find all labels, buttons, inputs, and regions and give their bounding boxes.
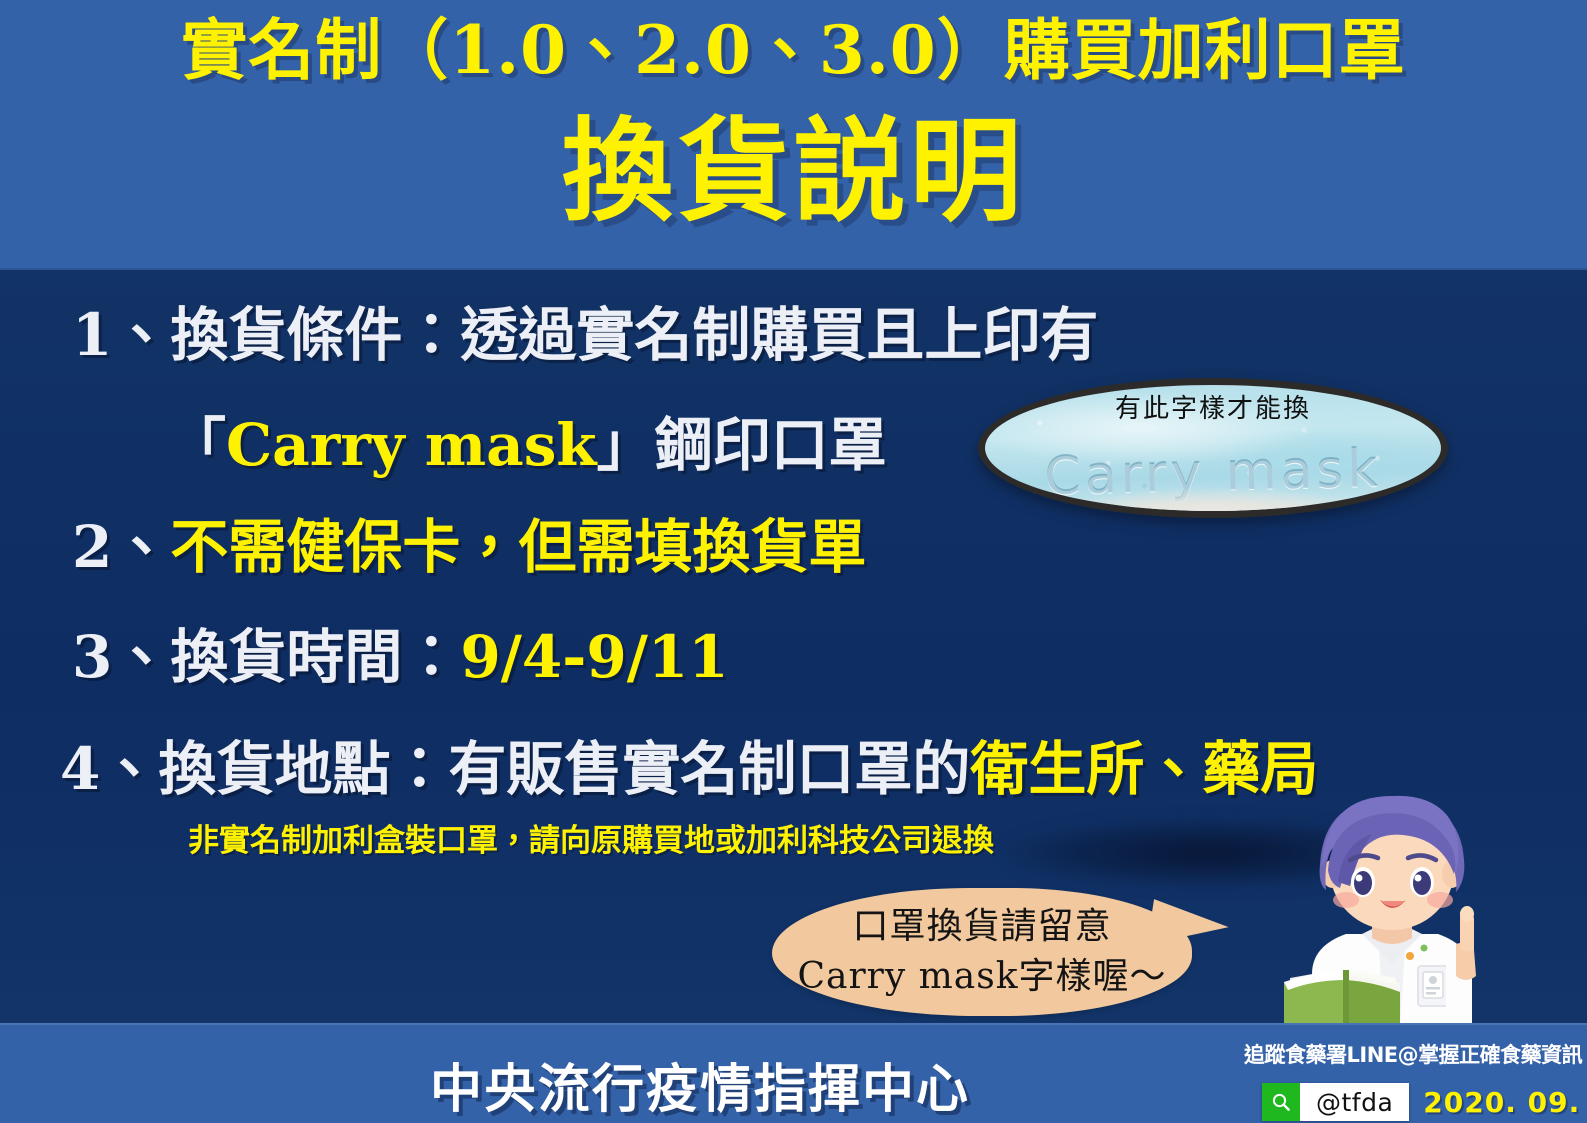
line-promo-text: 追蹤食藥署LINE@掌握正確食藥資訊 <box>1244 1039 1582 1069</box>
line-account-id: @tfda <box>1300 1083 1409 1121</box>
item-2-number: 2、 <box>72 513 170 581</box>
pharmacist-character-illustration <box>1250 778 1550 1026</box>
speech-bubble-line-2: Carry mask字樣喔～ <box>772 952 1192 1002</box>
poster-title-sub: 換貨説明 <box>0 105 1587 239</box>
speech-bubble-line-1: 口罩換貨請留意 <box>772 902 1192 952</box>
line-id-chip[interactable]: @tfda <box>1262 1083 1409 1121</box>
item-3-date-highlight: 9/4-9/11 <box>460 623 728 691</box>
mask-emboss-text: Carry mask <box>984 437 1441 508</box>
list-item-2: 2、不需健保卡，但需填換貨單 <box>72 500 866 584</box>
item-4-number: 4、 <box>60 735 158 803</box>
search-icon <box>1262 1083 1300 1121</box>
item-3-number: 3、 <box>72 623 170 691</box>
footnote-text: 非實名制加利盒裝口罩，請向原購買地或加利科技公司退換 <box>188 815 994 860</box>
item-4-label: 換貨地點：有販售實名制口罩的 <box>158 735 970 803</box>
list-item-1-continuation: 「Carry mask」鋼印口罩 <box>168 398 887 482</box>
list-item-3: 3、換貨時間：9/4-9/11 <box>72 610 729 694</box>
footer-band: 中央流行疫情指揮中心 追蹤食藥署LINE@掌握正確食藥資訊 @tfda 2020… <box>0 1023 1587 1123</box>
header-band: 實名制（1.0、2.0、3.0）購買加利口罩 換貨説明 <box>0 0 1587 270</box>
poster-root: 實名制（1.0、2.0、3.0）購買加利口罩 換貨説明 1、換貨條件：透過實名制… <box>0 0 1587 1123</box>
list-item-1: 1、換貨條件：透過實名制購買且上印有 <box>72 288 1098 372</box>
item-1-brand-highlight: Carry mask <box>226 411 597 479</box>
publish-date: 2020. 09. 07 <box>1423 1086 1587 1119</box>
mask-photo-caption: 有此字樣才能換 <box>978 388 1448 425</box>
item-1-quote-close: 」鋼印口罩 <box>597 411 887 479</box>
list-item-4: 4、換貨地點：有販售實名制口罩的衛生所、藥局 <box>60 722 1318 806</box>
item-1-number: 1、 <box>72 301 170 369</box>
item-1-label: 換貨條件：透過實名制購買且上印有 <box>170 301 1098 369</box>
poster-title-main: 實名制（1.0、2.0、3.0）購買加利口罩 <box>0 10 1587 91</box>
item-2-highlight: 不需健保卡，但需填換貨單 <box>170 513 866 581</box>
item-3-label: 換貨時間： <box>170 623 460 691</box>
item-1-quote-open: 「 <box>168 411 226 479</box>
speech-bubble-text: 口罩換貨請留意 Carry mask字樣喔～ <box>772 902 1192 1001</box>
issuing-organization: 中央流行疫情指揮中心 <box>380 1047 1020 1122</box>
line-badge-row: @tfda 2020. 09. 07 <box>1262 1083 1587 1121</box>
